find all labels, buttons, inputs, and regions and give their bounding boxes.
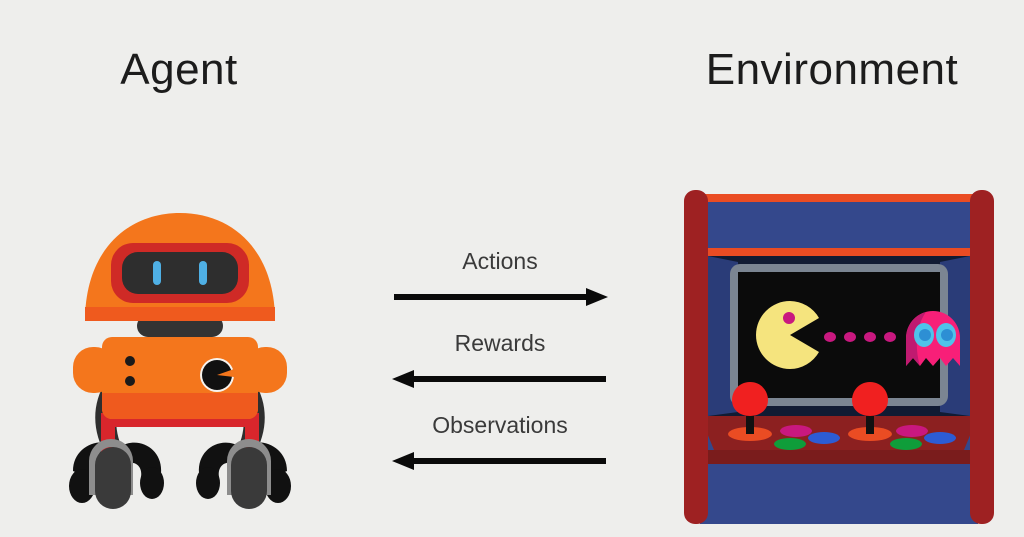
cabinet-top-stripe bbox=[700, 194, 978, 202]
button-1-blue[interactable] bbox=[808, 432, 840, 444]
robot-indicator-dot-bottom bbox=[125, 376, 135, 386]
button-1-green[interactable] bbox=[774, 438, 806, 450]
robot-icon bbox=[45, 195, 315, 515]
flow-rewards-label: Rewards bbox=[390, 330, 610, 357]
pacman-eye bbox=[783, 312, 795, 324]
flow-actions-label: Actions bbox=[390, 248, 610, 275]
cabinet-base bbox=[700, 464, 978, 524]
agent-title: Agent bbox=[0, 45, 358, 95]
arcade-cabinet-icon bbox=[678, 176, 1000, 524]
robot-right-claw-tip-b bbox=[196, 467, 220, 499]
flow-observations-label: Observations bbox=[390, 412, 610, 439]
robot-eye-right bbox=[199, 261, 207, 285]
cabinet-left-post bbox=[684, 190, 708, 524]
pellet-4 bbox=[884, 332, 896, 342]
pellet-1 bbox=[824, 332, 836, 342]
robot-left-wheel bbox=[95, 447, 131, 509]
robot-visor-screen bbox=[122, 252, 238, 294]
flow-actions: Actions bbox=[390, 248, 610, 310]
cabinet-marquee-stripe bbox=[700, 248, 978, 256]
cabinet-marquee bbox=[700, 202, 978, 248]
cabinet-right-post bbox=[970, 190, 994, 524]
flow-actions-arrow-right-icon bbox=[390, 286, 610, 308]
joystick-2-ball bbox=[852, 382, 888, 416]
robot-head-base-shadow bbox=[85, 307, 275, 321]
robot-right-wheel bbox=[231, 447, 267, 509]
agent-robot-illustration bbox=[45, 195, 315, 515]
ghost-pupil-right bbox=[941, 329, 953, 341]
robot-indicator-dot-top bbox=[125, 356, 135, 366]
robot-eye-left bbox=[153, 261, 161, 285]
button-2-magenta[interactable] bbox=[896, 425, 928, 437]
robot-left-claw-tip-b bbox=[140, 467, 164, 499]
joystick-1-ball bbox=[732, 382, 768, 416]
robot-torso-shadow bbox=[102, 393, 258, 419]
environment-arcade-illustration bbox=[678, 176, 1000, 524]
ghost-pupil-left bbox=[919, 329, 931, 341]
button-2-blue[interactable] bbox=[924, 432, 956, 444]
flow-rewards: Rewards bbox=[390, 330, 610, 392]
flow-observations-arrow-left-icon bbox=[390, 450, 610, 472]
pellet-3 bbox=[864, 332, 876, 342]
control-panel-edge bbox=[700, 450, 978, 464]
environment-title: Environment bbox=[640, 45, 1024, 95]
button-1-magenta[interactable] bbox=[780, 425, 812, 437]
pellet-2 bbox=[844, 332, 856, 342]
flow-rewards-arrow-left-icon bbox=[390, 368, 610, 390]
flow-observations: Observations bbox=[390, 412, 610, 474]
diagram-canvas: Agent Environment bbox=[0, 0, 1024, 537]
button-2-green[interactable] bbox=[890, 438, 922, 450]
